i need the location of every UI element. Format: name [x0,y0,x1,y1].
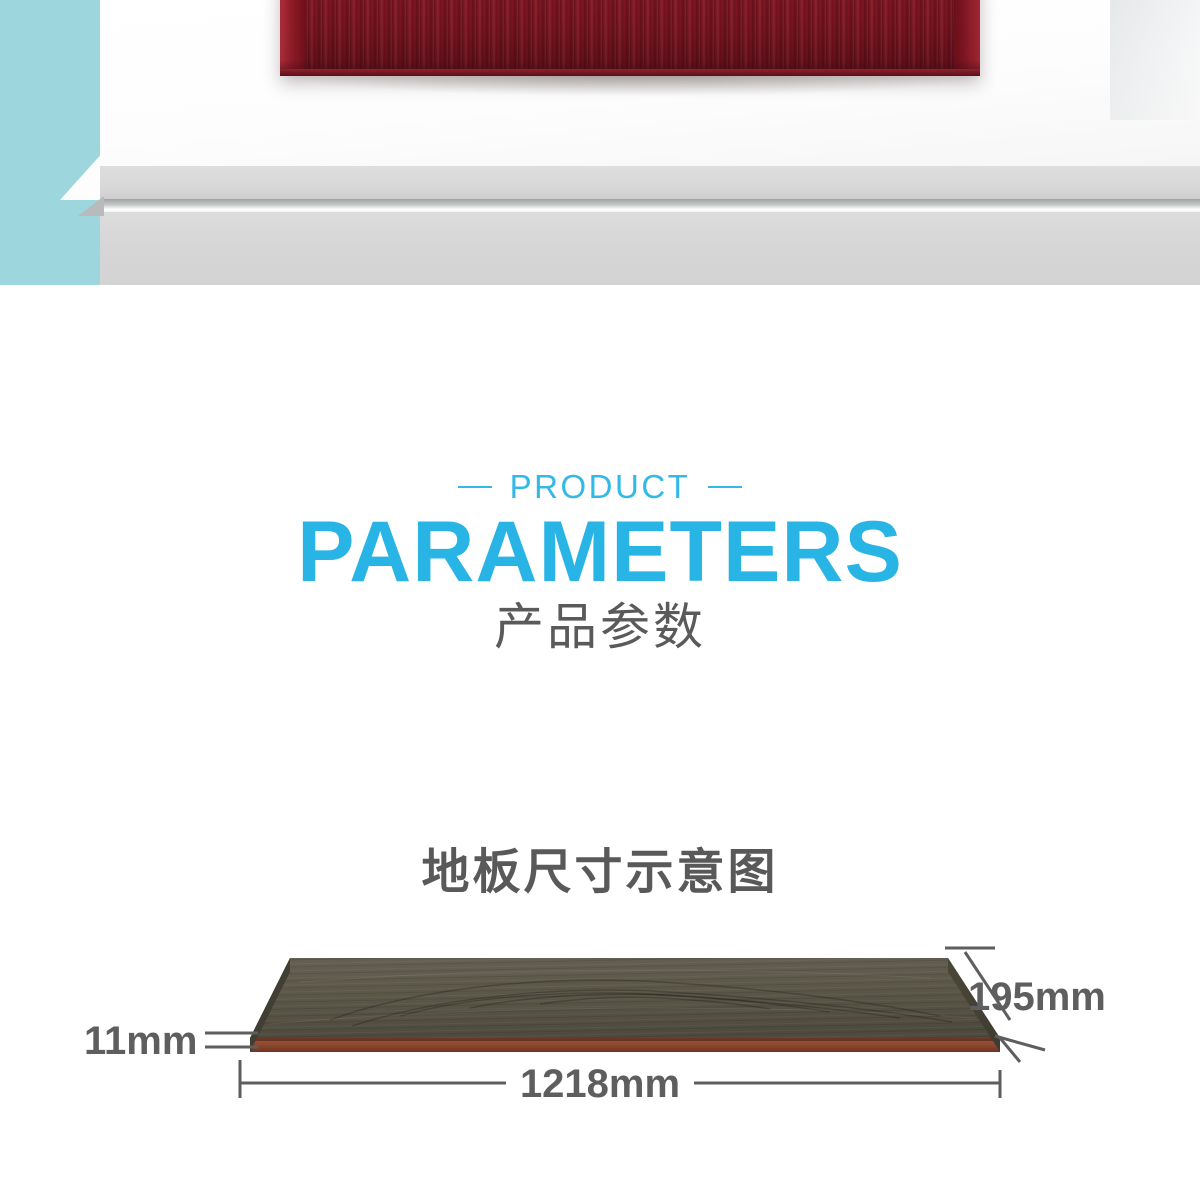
diagram-heading: 地板尺寸示意图 [0,832,1200,902]
plaque-bottom-bevel [280,69,980,76]
desk-edge-band [100,166,1200,199]
thickness-label: 11mm [84,1021,197,1061]
desk-top-highlight [1110,0,1200,120]
award-plaque [280,0,980,76]
kicker-dash-left-icon [458,486,492,488]
desk-groove [100,199,1200,212]
plank-edge-shadow-line [250,1038,1000,1041]
product-parameters-header: PRODUCT PARAMETERS 产品参数 [0,470,1200,656]
desk-front-panel [100,212,1200,285]
kicker-dash-right-icon [708,486,742,488]
length-label: 1218mm [0,1064,1200,1104]
product-photo-crop [0,0,1200,285]
flooring-plank [250,958,1000,1052]
section-kicker: PRODUCT [0,470,1200,503]
kicker-label: PRODUCT [510,470,691,503]
page-subtitle: 产品参数 [0,599,1200,657]
page-title: PARAMETERS [0,509,1200,597]
length-label-text: 1218mm [506,1062,694,1106]
plaque-shadow [286,74,986,96]
width-label: 195mm [968,977,1106,1017]
